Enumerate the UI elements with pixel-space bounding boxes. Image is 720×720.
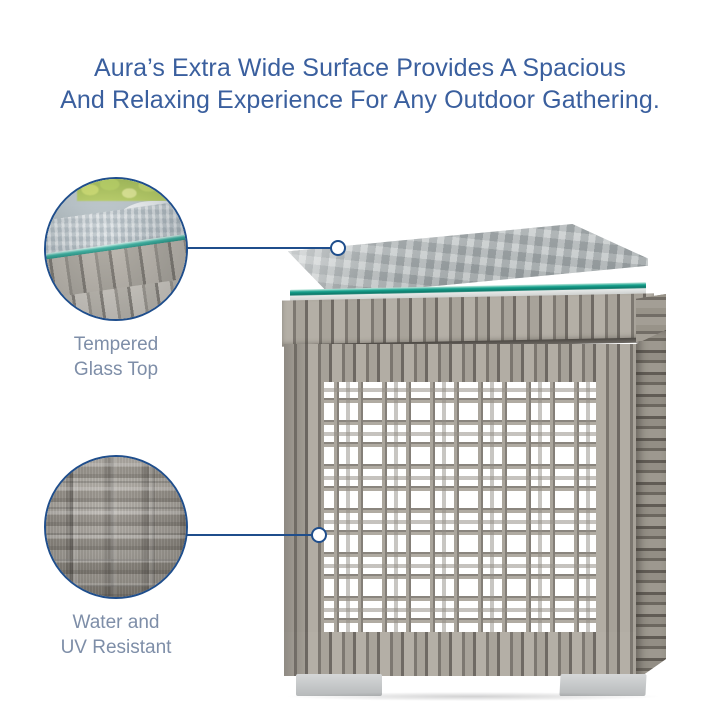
table-left-corner-post-shading xyxy=(284,344,310,676)
callout-image-uv-resistant xyxy=(44,455,188,599)
callout-image-glass-top xyxy=(44,177,188,321)
callout-label-uv-resistant: Water and UV Resistant xyxy=(18,610,214,660)
floor-shadow xyxy=(288,692,658,701)
hotspot-dot-uv-resistant[interactable] xyxy=(311,527,327,543)
open-lattice-panel xyxy=(324,382,596,632)
photo-wicker-macro xyxy=(46,457,186,597)
page-title: Aura’s Extra Wide Surface Provides A Spa… xyxy=(0,52,720,116)
lattice-vertical-accent xyxy=(324,382,596,632)
table-right-side-face xyxy=(636,330,666,680)
photo-vignette xyxy=(46,457,186,597)
product-image-side-table xyxy=(268,210,668,705)
callout-label-glass-top: Tempered Glass Top xyxy=(24,332,208,382)
table-base-weave-band xyxy=(284,632,636,676)
photo-glass-top-corner xyxy=(46,179,186,319)
photo-vignette xyxy=(46,179,186,319)
leader-line-glass-top xyxy=(186,247,338,249)
product-feature-graphic: Aura’s Extra Wide Surface Provides A Spa… xyxy=(0,0,720,720)
leader-line-uv-resistant xyxy=(187,534,319,536)
hotspot-dot-glass-top[interactable] xyxy=(330,240,346,256)
